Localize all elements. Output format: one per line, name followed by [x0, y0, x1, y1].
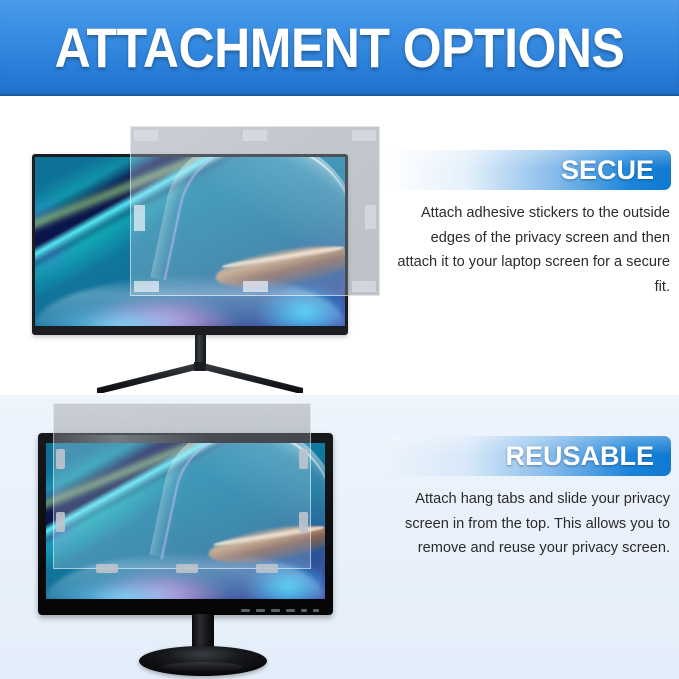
monitor-stand-v [97, 362, 303, 396]
monitor-oval-base [139, 646, 267, 676]
monitor-bezel [32, 154, 348, 335]
control-button-power-icon[interactable] [313, 609, 319, 612]
control-button-exit-icon[interactable] [301, 609, 307, 612]
page-title: ATTACHMENT OPTIONS [55, 16, 625, 81]
control-button-minus-icon[interactable] [256, 609, 265, 612]
abstract-wave-wallpaper [35, 157, 345, 326]
monitor-thick-bezel [30, 403, 375, 673]
adhesive-sticker-top-center [243, 130, 267, 141]
reusable-illustration [0, 395, 388, 679]
control-button-menu-icon[interactable] [241, 609, 250, 612]
monitor-thin-bezel [32, 126, 368, 396]
label-bar-reusable: REUSABLE [388, 436, 671, 476]
section-reusable: REUSABLE Attach hang tabs and slide your… [0, 395, 679, 679]
label-secure: SECUE [561, 155, 654, 186]
adhesive-sticker-bottom-right [352, 281, 376, 292]
control-button-input-icon[interactable] [286, 609, 295, 612]
body-text-secure: Attach adhesive stickers to the outside … [395, 201, 670, 299]
header-banner: ATTACHMENT OPTIONS [0, 0, 679, 96]
body-text-reusable: Attach hang tabs and slide your privacy … [395, 487, 670, 561]
reusable-info-panel: REUSABLE Attach hang tabs and slide your… [388, 395, 679, 679]
control-button-plus-icon[interactable] [271, 609, 280, 612]
secure-illustration [0, 96, 388, 395]
section-secure: SECUE Attach adhesive stickers to the ou… [0, 96, 679, 395]
monitor-control-buttons[interactable] [241, 609, 319, 612]
adhesive-sticker-top-right [352, 130, 376, 141]
adhesive-sticker-mid-right [365, 205, 376, 229]
monitor-screen [35, 157, 345, 326]
adhesive-sticker-top-left [134, 130, 158, 141]
stand-shape-icon [97, 362, 303, 396]
infographic-page: ATTACHMENT OPTIONS [0, 0, 679, 679]
monitor-bezel [38, 433, 333, 615]
label-reusable: REUSABLE [505, 441, 654, 472]
secure-info-panel: SECUE Attach adhesive stickers to the ou… [388, 96, 679, 395]
abstract-wave-wallpaper [46, 443, 325, 599]
monitor-screen [46, 443, 325, 599]
label-bar-secure: SECUE [388, 150, 671, 190]
monitor-neck [195, 335, 206, 365]
